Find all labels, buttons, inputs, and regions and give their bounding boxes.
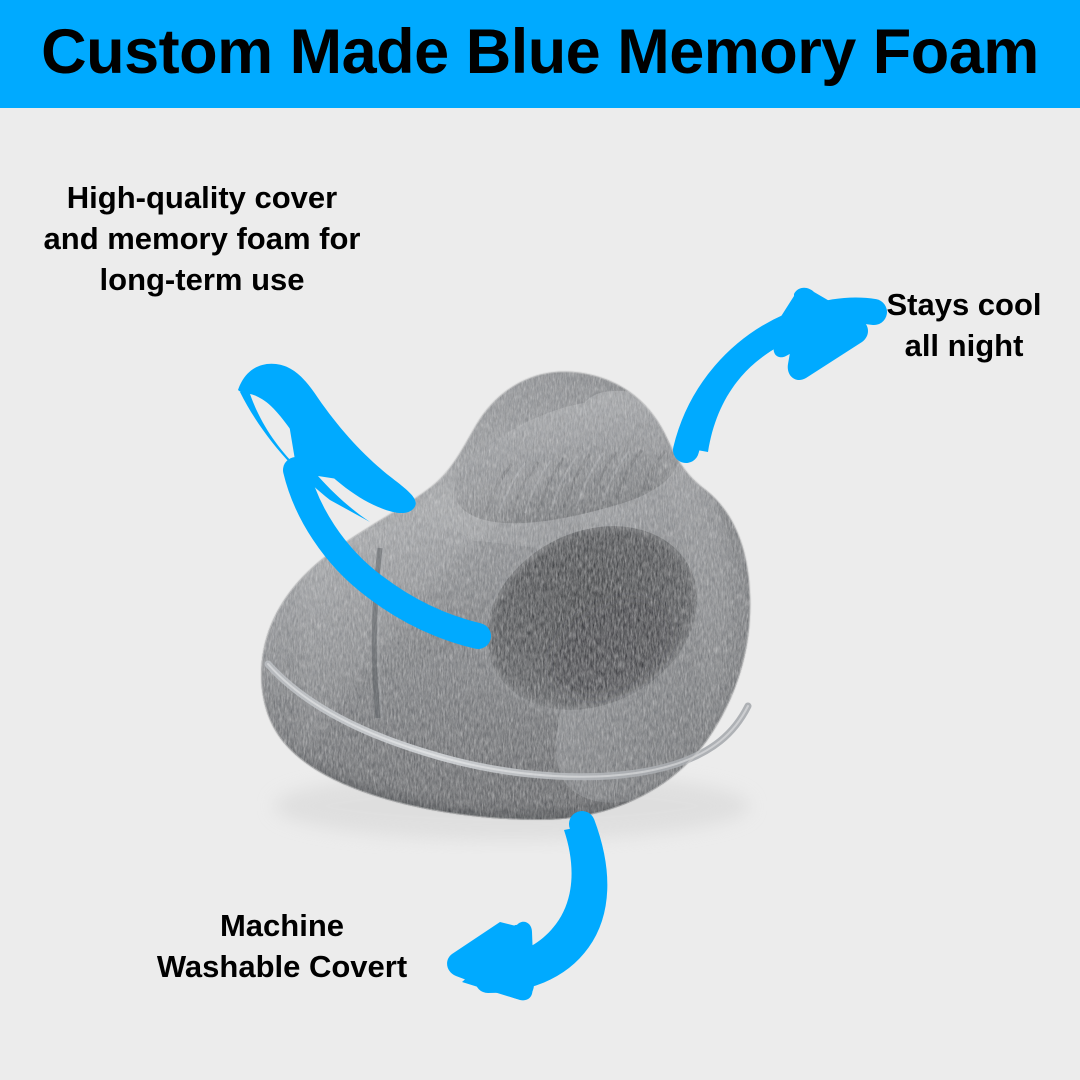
infographic-canvas: Custom Made Blue Memory Foam (0, 0, 1080, 1080)
callout-stays-cool: Stays cool all night (852, 285, 1076, 367)
callout-high-quality-cover: High-quality cover and memory foam for l… (12, 178, 392, 301)
callout-machine-washable: Machine Washable Covert (106, 906, 458, 988)
pillow-body (240, 350, 780, 860)
